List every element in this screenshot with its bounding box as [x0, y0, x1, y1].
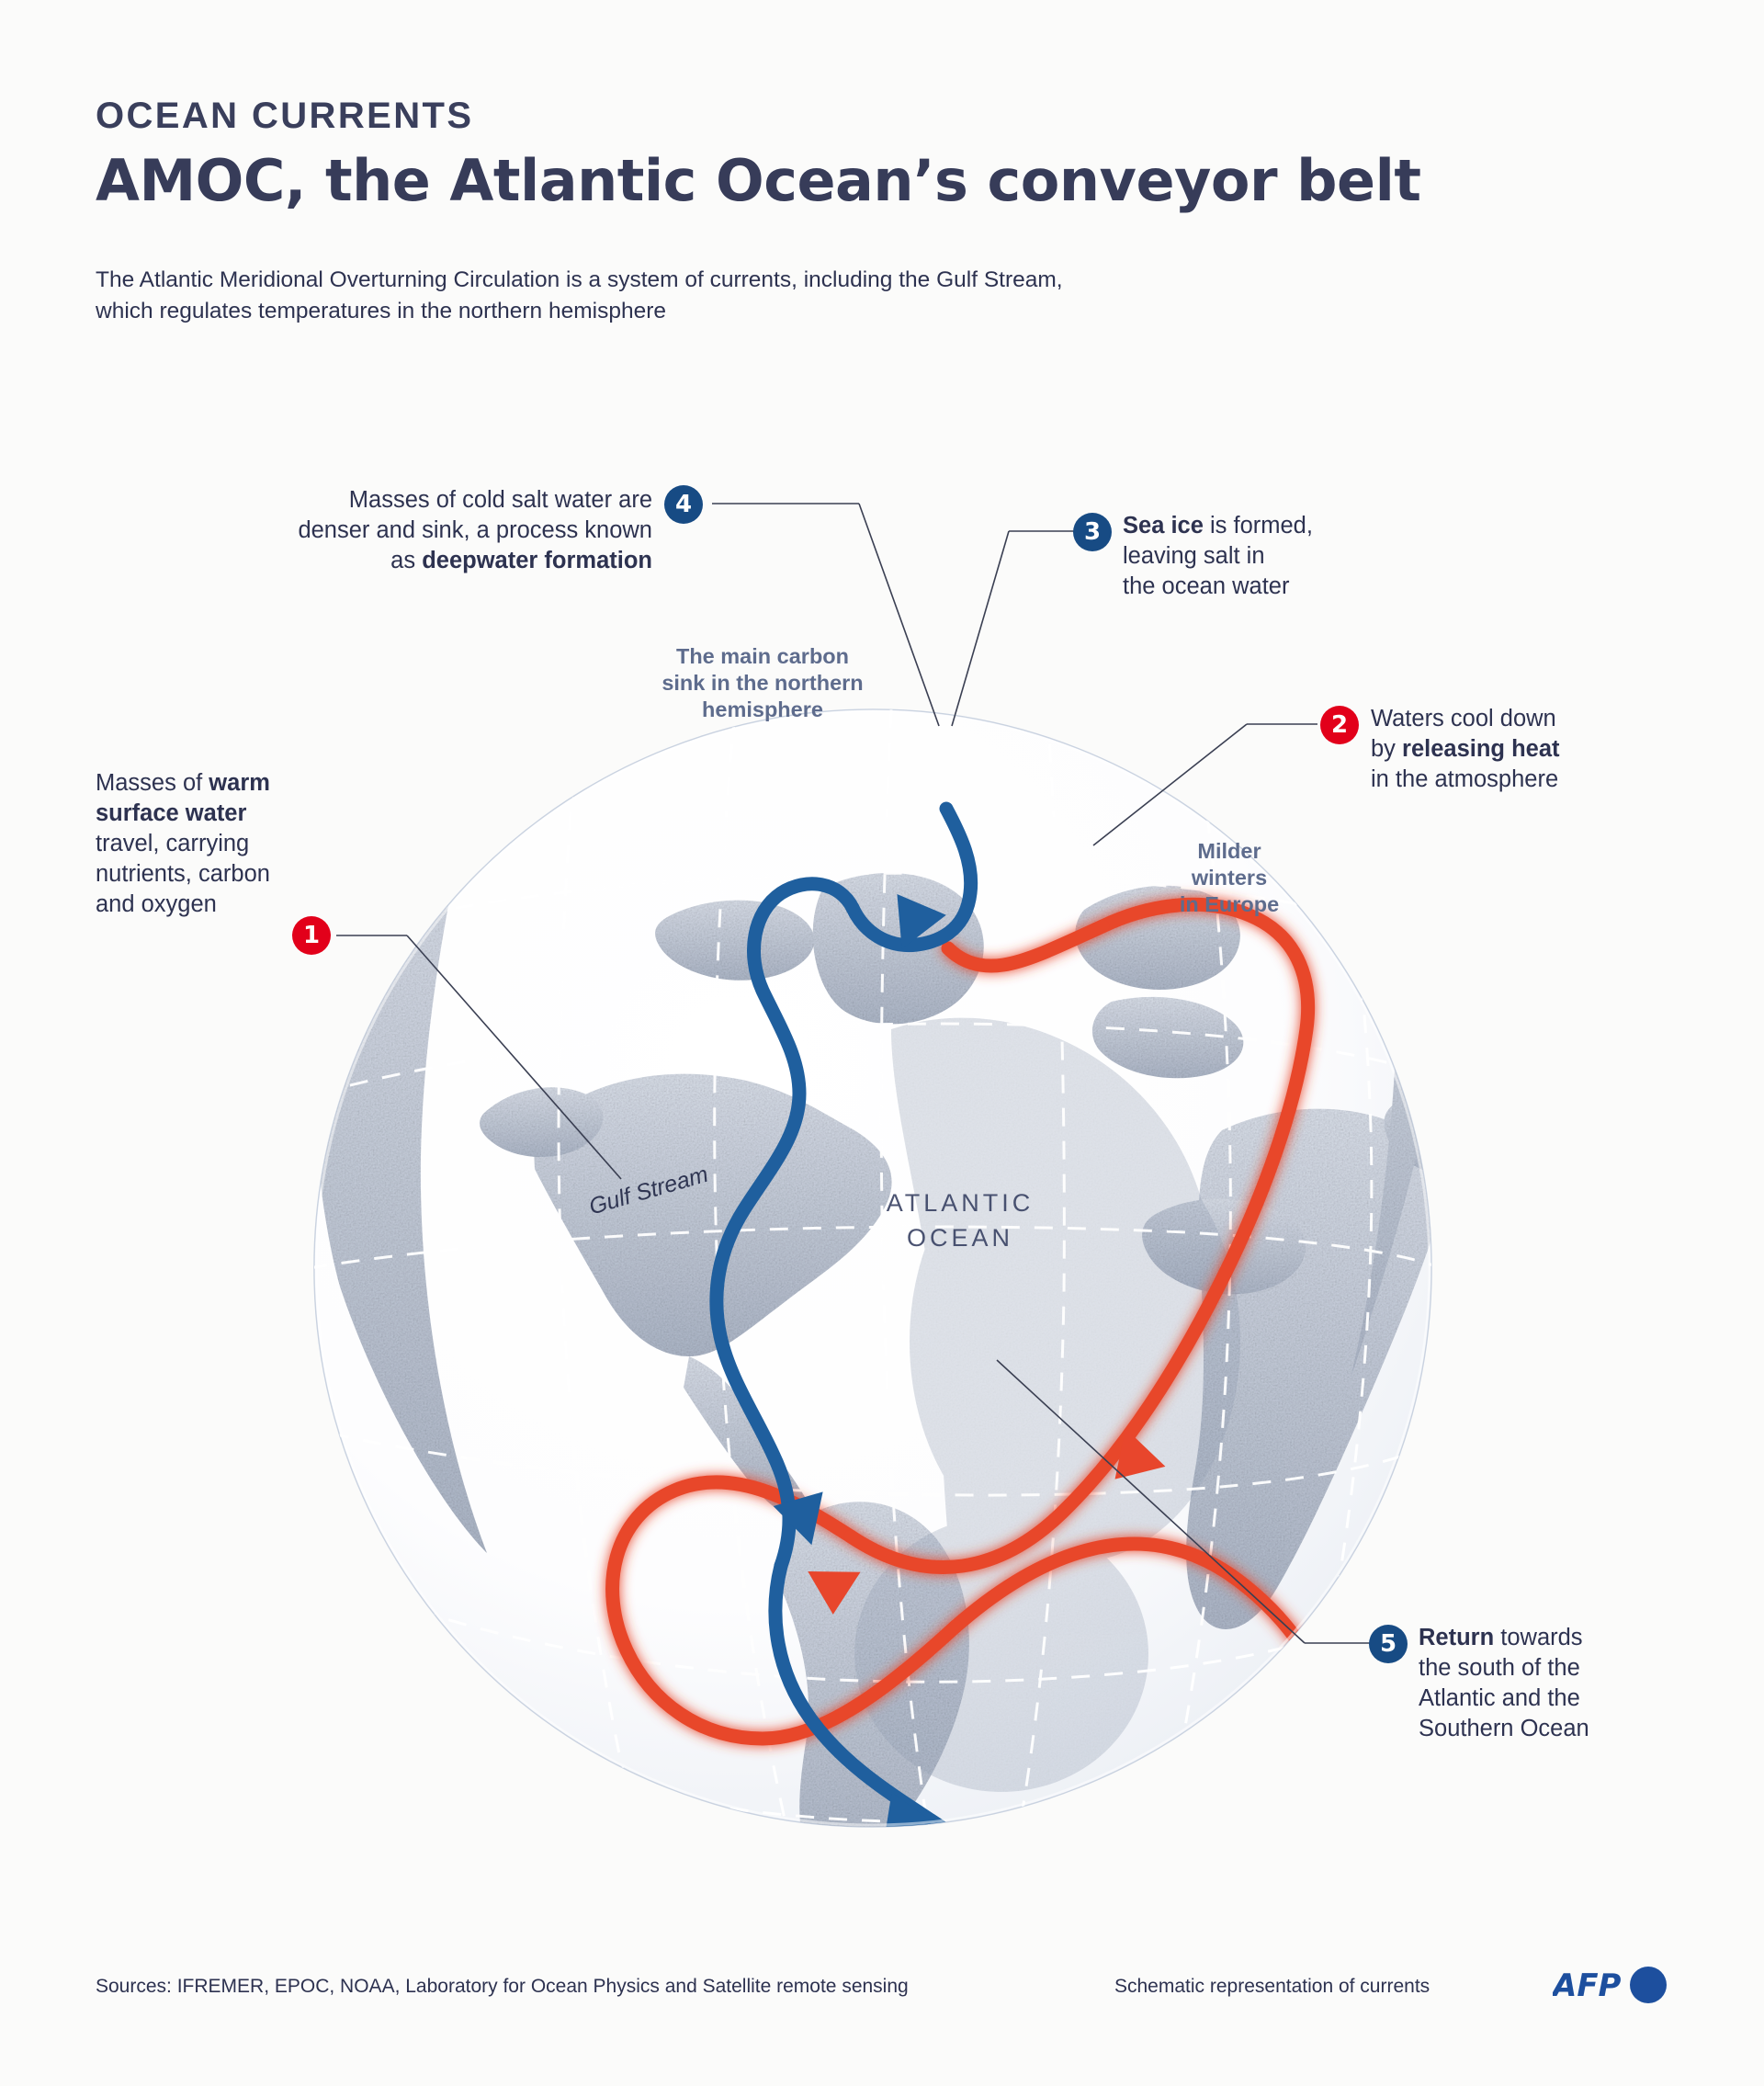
callout-5-text: Return towards the south of the Atlantic…	[1419, 1623, 1764, 1744]
afp-logo: AFP	[1553, 1965, 1672, 2021]
milder-winters-label: Milder winters in Europe	[1151, 838, 1307, 918]
callout-2-text: Waters cool down by releasing heat in th…	[1371, 704, 1738, 795]
callout-4-text: Masses of cold salt water are denser and…	[156, 485, 652, 576]
callout-1-line-4: nutrients, carbon	[96, 861, 270, 887]
carbon-sink-label: The main carbon sink in the northern hem…	[634, 643, 891, 723]
standfirst-line-1: The Atlantic Meridional Overturning Circ…	[96, 267, 1063, 292]
badge-2[interactable]: 2	[1320, 706, 1359, 744]
carbon-sink-line-2: sink in the northern	[661, 671, 863, 695]
callout-3-line-1-plain: is formed,	[1204, 513, 1313, 539]
callout-1-line-2-bold: surface water	[96, 800, 246, 826]
afp-logo-dot	[1630, 1967, 1667, 2003]
page-kicker: OCEAN CURRENTS	[96, 96, 473, 137]
callout-2-line-1: Waters cool down	[1371, 706, 1556, 731]
callout-4-line-3-plain: as	[390, 548, 422, 573]
afp-logo-text: AFP	[1553, 1967, 1622, 2004]
leader-line-3b	[952, 531, 1009, 726]
callout-5-line-4: Southern Ocean	[1419, 1716, 1589, 1741]
badge-3[interactable]: 3	[1073, 513, 1112, 551]
callout-5-line-1-plain: towards	[1494, 1625, 1582, 1650]
atlantic-ocean-label: ATLANTIC OCEAN	[854, 1185, 1066, 1255]
infographic-page: OCEAN CURRENTS AMOC, the Atlantic Ocean’…	[0, 0, 1764, 2086]
page-title: AMOC, the Atlantic Ocean’s conveyor belt	[96, 147, 1420, 214]
badge-4[interactable]: 4	[664, 485, 703, 524]
callout-1-line-3: travel, carrying	[96, 831, 249, 856]
callout-1-text: Masses of warm surface water travel, car…	[96, 768, 353, 920]
callout-5-line-2: the south of the	[1419, 1655, 1580, 1681]
callout-1-line-1-plain: Masses of	[96, 770, 209, 796]
callout-4-line-2: denser and sink, a process known	[298, 517, 652, 543]
atlantic-ocean-line-1: ATLANTIC	[887, 1189, 1035, 1217]
callout-5-line-3: Atlantic and the	[1419, 1685, 1580, 1711]
callout-5-line-1-bold: Return	[1419, 1625, 1494, 1650]
callout-3-line-1-bold: Sea ice	[1123, 513, 1204, 539]
callout-4-line-1: Masses of cold salt water are	[349, 487, 652, 513]
callout-2-line-3: in the atmosphere	[1371, 766, 1558, 792]
milder-winters-line-2: winters	[1192, 866, 1267, 890]
atlantic-ocean-line-2: OCEAN	[907, 1224, 1013, 1252]
page-standfirst: The Atlantic Meridional Overturning Circ…	[96, 265, 1063, 327]
badge-1[interactable]: 1	[292, 916, 331, 955]
carbon-sink-line-3: hemisphere	[702, 697, 823, 721]
milder-winters-line-1: Milder	[1197, 839, 1261, 863]
badge-5[interactable]: 5	[1369, 1625, 1408, 1663]
callout-3-line-2: leaving salt in	[1123, 543, 1265, 569]
standfirst-line-2: which regulates temperatures in the nort…	[96, 299, 666, 323]
carbon-sink-line-1: The main carbon	[676, 644, 849, 668]
callout-2-line-2-plain: by	[1371, 736, 1402, 762]
schematic-note: Schematic representation of currents	[1114, 1976, 1430, 1998]
callout-3-line-3: the ocean water	[1123, 573, 1289, 599]
callout-1-line-1-bold: warm	[209, 770, 270, 796]
callout-1-line-5: and oxygen	[96, 891, 217, 917]
callout-4-line-3-bold: deepwater formation	[422, 548, 652, 573]
afp-logo-svg: AFP	[1553, 1965, 1672, 2016]
callout-3-text: Sea ice is formed, leaving salt in the o…	[1123, 511, 1453, 602]
sources-text: Sources: IFREMER, EPOC, NOAA, Laboratory…	[96, 1976, 909, 1998]
milder-winters-line-3: in Europe	[1180, 892, 1279, 916]
callout-2-line-2-bold: releasing heat	[1402, 736, 1560, 762]
